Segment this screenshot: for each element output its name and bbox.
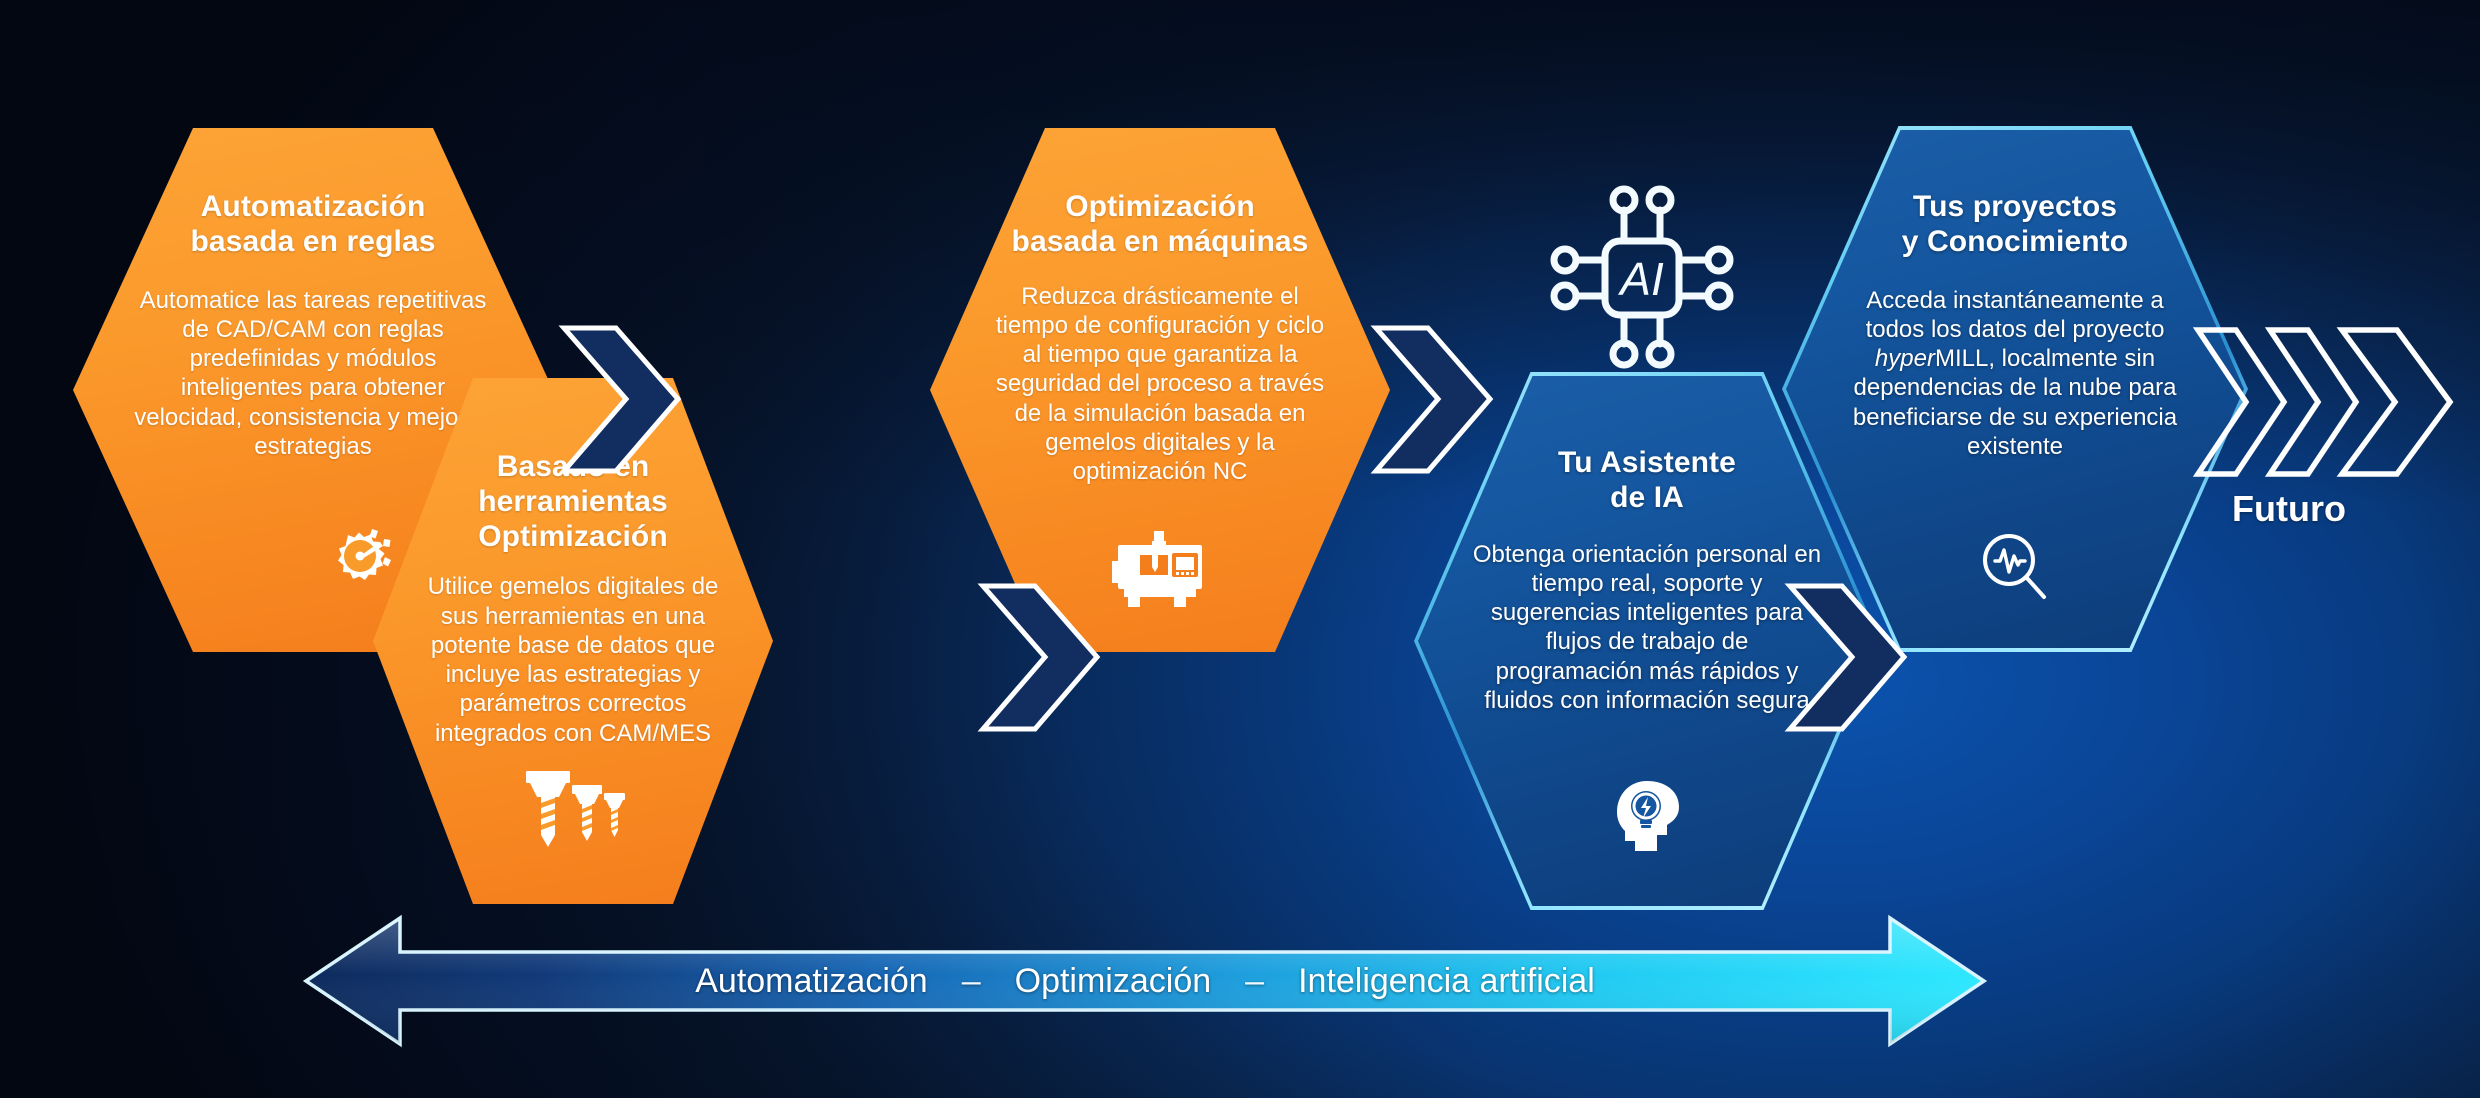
hex-title-line: herramientas [478,485,668,520]
hex-title-line: Tu Asistente [1558,446,1736,481]
hex-title-line: Optimización [478,520,668,555]
hex-title: Tu Asistente de IA [1558,446,1736,516]
hex-title-line: Automatización [190,190,435,225]
ai-chip-icon: AI [1542,178,1742,378]
connector-chevron-2 [975,580,1105,735]
hex-title: Optimización basada en máquinas [1012,190,1309,260]
hex-body-text: Acceda instantáneamente a todos los dato… [1838,286,2192,462]
hex-title-line: basada en reglas [190,225,435,260]
cutting-tools-icon [520,767,626,856]
chevron-right-outline-icon [2198,330,2284,474]
cnc-machine-icon [1112,531,1208,614]
hex-title-line: basada en máquinas [1012,225,1309,260]
hex-body-pre: Acceda instantáneamente a todos los dato… [1866,287,2165,343]
future-label: Futuro [2232,488,2346,530]
hex-title-line: Tus proyectos [1902,190,2128,225]
hex-title: Automatización basada en reglas [190,190,435,260]
ai-chip-label: AI [1617,253,1664,305]
hex-body-brand-italic: hyper [1875,345,1935,372]
connector-chevron-3 [1368,322,1498,477]
connector-chevron-1 [556,322,686,477]
magnifier-pulse-icon [1980,531,2050,608]
hex-body-text: Reduzca drásticamente el tiempo de confi… [984,282,1336,487]
gear-speedometer-icon [310,525,396,610]
hex-title-line: y Conocimiento [1902,225,2128,260]
hex-title: Tus proyectos y Conocimiento [1902,190,2128,260]
head-lightbulb-icon [1613,779,1681,858]
hex-body-text: Utilice gemelos digitales de sus herrami… [421,572,725,748]
timeline-double-arrow [300,914,1990,1048]
connector-chevron-4 [1782,580,1912,735]
future-chevrons [2192,322,2480,482]
hex-title-line: Optimización [1012,190,1309,225]
infographic-canvas: Automatización basada en reglas Automati… [0,0,2480,1098]
hex-body-text: Obtenga orientación personal en tiempo r… [1470,540,1824,716]
hex-body-text: Automatice las tareas repetitivas de CAD… [131,286,495,462]
hex-title-line: de IA [1558,481,1736,516]
